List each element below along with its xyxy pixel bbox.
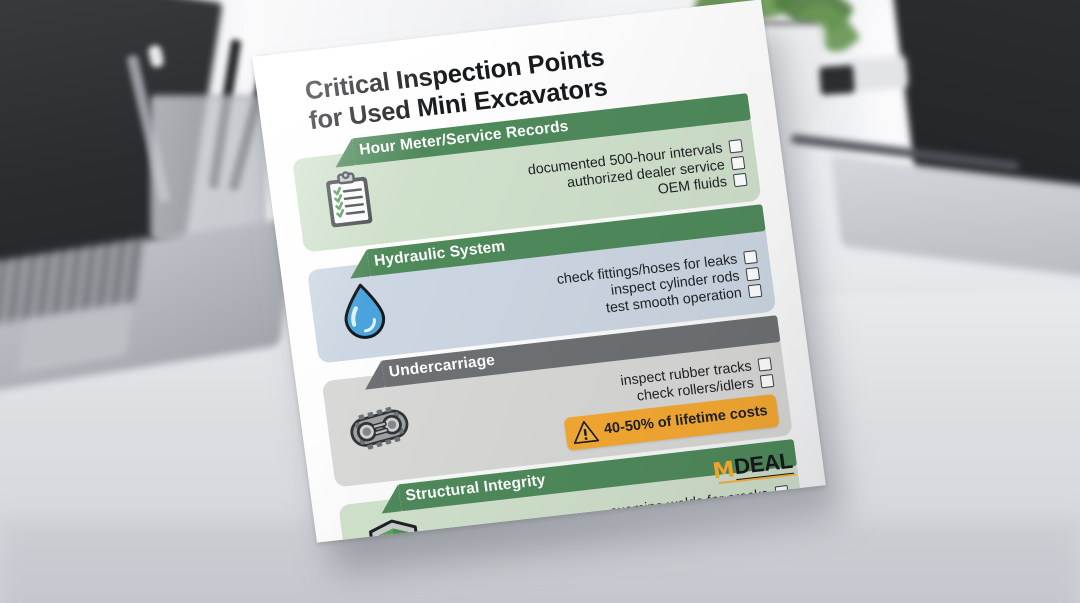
checkbox[interactable] bbox=[743, 250, 758, 264]
checkbox[interactable] bbox=[758, 357, 773, 371]
section-icon-wrap bbox=[335, 394, 424, 463]
checkbox[interactable] bbox=[731, 156, 746, 170]
water-drop-icon bbox=[330, 278, 398, 344]
track-undercarriage-icon bbox=[346, 395, 414, 461]
section-icon-wrap bbox=[304, 165, 393, 234]
warning-triangle-icon bbox=[570, 417, 600, 447]
pen-holder bbox=[150, 95, 266, 241]
checkbox[interactable] bbox=[748, 284, 763, 298]
checkbox[interactable] bbox=[728, 139, 743, 153]
cost-warning-badge: 40-50% of lifetime costs bbox=[563, 393, 779, 450]
cost-warning-text: 40-50% of lifetime costs bbox=[603, 403, 768, 438]
desk-object-dark bbox=[819, 65, 855, 95]
section-icon-wrap bbox=[319, 276, 408, 345]
clipboard-checklist-icon bbox=[315, 167, 383, 233]
checkbox[interactable] bbox=[760, 374, 775, 388]
checkbox[interactable] bbox=[745, 267, 760, 281]
inspection-checklist-poster: Critical Inspection Points for Used Mini… bbox=[252, 0, 826, 543]
checkbox[interactable] bbox=[733, 173, 748, 187]
